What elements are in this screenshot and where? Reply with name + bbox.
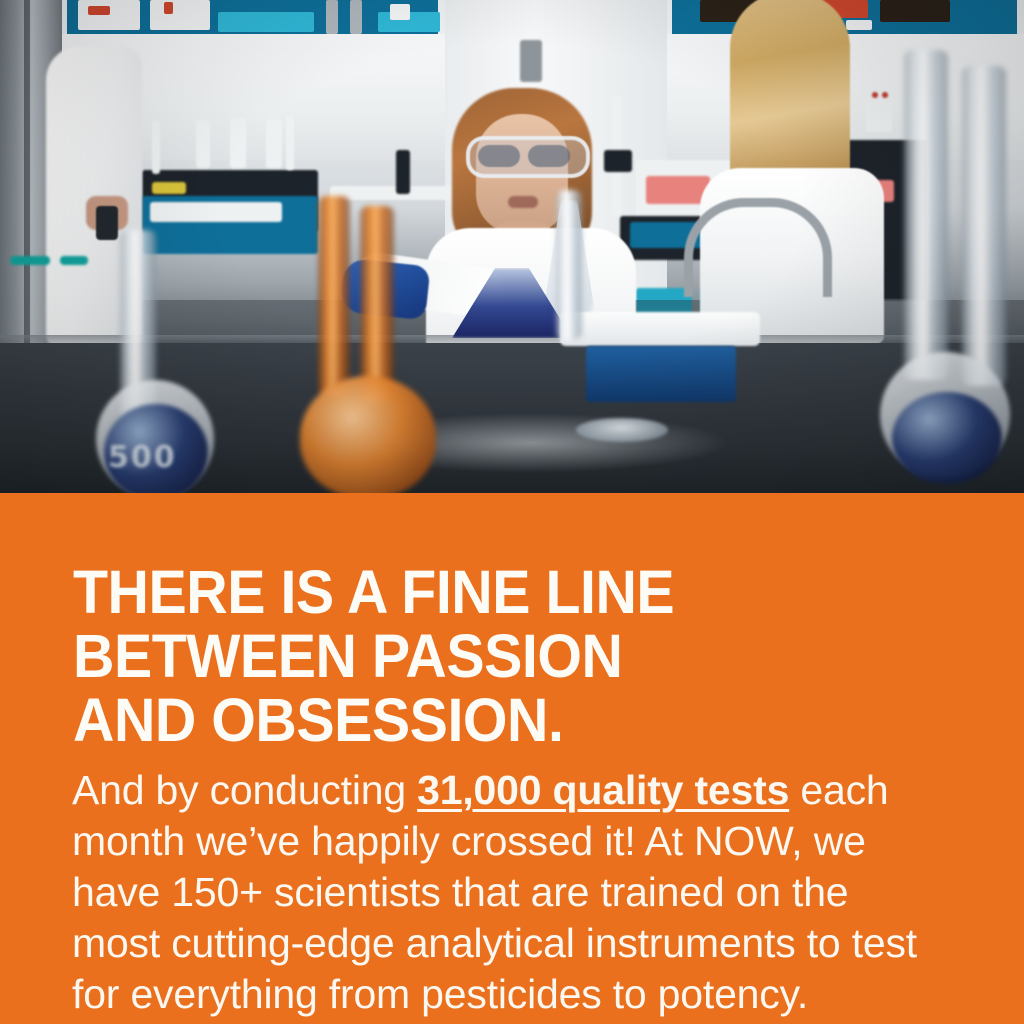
vial-1 <box>196 120 210 168</box>
glass-column-right-1 <box>904 50 948 380</box>
shelf-box-1 <box>78 0 140 30</box>
vial-3 <box>266 120 282 168</box>
glass-column-center <box>556 190 582 340</box>
shelf-bottle-2 <box>350 0 362 34</box>
shelf-funnel <box>390 4 410 20</box>
teal-band-2 <box>60 256 88 265</box>
shelf-label-red-1 <box>88 6 110 15</box>
orange-text-panel: THERE IS A FINE LINE BETWEEN PASSION AND… <box>0 493 1024 1024</box>
lab-hose <box>684 198 832 297</box>
left-technician-device <box>96 206 118 240</box>
amber-column-2 <box>360 206 394 402</box>
analytical-balance-base <box>586 346 736 402</box>
burette-2 <box>286 116 294 170</box>
scientist-mouth <box>508 196 538 208</box>
vial-2 <box>230 118 246 168</box>
goggles-lens-right <box>528 145 570 167</box>
burette-1 <box>152 120 160 174</box>
body-text-before: And by conducting <box>72 767 417 813</box>
goggles-lens-left <box>478 145 520 167</box>
shelf-bottle-1 <box>326 0 338 34</box>
lab-photo: 500 <box>0 0 1024 493</box>
flask-500-label: 500 <box>108 440 177 475</box>
instrument-yellow-label <box>152 182 186 194</box>
shelf-box-2 <box>150 0 210 30</box>
page-headline: THERE IS A FINE LINE BETWEEN PASSION AND… <box>73 560 919 752</box>
quality-tests-highlight: 31,000 quality tests <box>417 767 789 813</box>
teal-band-1 <box>10 256 50 265</box>
shelf-dark-items-2 <box>880 0 950 22</box>
petri-dish <box>576 418 668 442</box>
body-paragraph: And by conducting 31,000 quality tests e… <box>72 765 934 1020</box>
amber-column-1 <box>318 196 350 396</box>
right-scientist <box>706 0 876 332</box>
shelf-blue-bin <box>218 12 314 32</box>
lab-scene: 500 <box>0 0 1024 493</box>
promo-canvas: 500 THERE IS A FINE LINE BETWEEN PASSION… <box>0 0 1024 1024</box>
outlet-indicator-2 <box>882 92 888 98</box>
shelf-label-red-2 <box>164 2 173 14</box>
analytical-balance-pan <box>560 312 760 346</box>
instrument-display <box>150 202 282 222</box>
amber-flask-bulb <box>300 376 436 493</box>
safety-goggles <box>466 136 590 178</box>
volumetric-flask-right-liquid <box>892 392 1002 484</box>
glass-column-right-2 <box>962 66 1006 386</box>
